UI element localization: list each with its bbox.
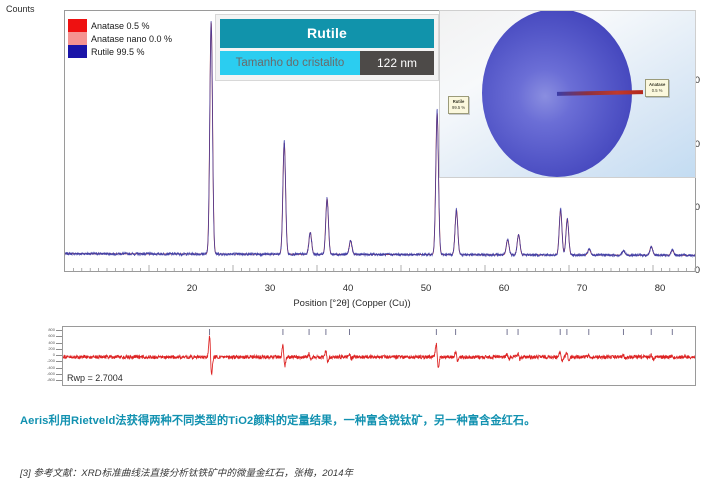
rutile-info-card: Rutile Tamanho do cristalito 122 nm bbox=[215, 14, 439, 81]
legend-item-anatase-nano: Anatase nano 0.0 % bbox=[68, 32, 172, 45]
legend-item-rutile: Rutile 99.5 % bbox=[68, 45, 172, 58]
rwp-value-label: Rwp = 2.7004 bbox=[67, 373, 123, 383]
figure-reference: [3] 参考文献：XRD标准曲线法直接分析钛铁矿中的微量金红石，张梅，2014年 bbox=[20, 465, 690, 479]
residual-y-tick-label: 800 bbox=[48, 328, 55, 332]
legend-swatch-rutile bbox=[68, 45, 87, 58]
rutile-card-body: Tamanho do cristalito 122 nm bbox=[220, 51, 434, 75]
x-tick-label-60: 60 bbox=[499, 283, 510, 294]
legend-label-rutile: Rutile 99.5 % bbox=[91, 47, 145, 57]
residual-y-tick-label: -200 bbox=[47, 359, 55, 363]
legend-swatch-anatase-nano bbox=[68, 32, 87, 45]
x-tick-label-40: 40 bbox=[343, 283, 354, 294]
residual-y-tick-label: -400 bbox=[47, 366, 55, 370]
x-tick-label-70: 70 bbox=[577, 283, 588, 294]
residual-plot-area: Rwp = 2.7004 bbox=[62, 326, 696, 386]
legend-item-anatase: Anatase 0.5 % bbox=[68, 19, 172, 32]
pie-callout-anatase-value: 0.5 % bbox=[652, 88, 663, 93]
crystallite-size-label: Tamanho do cristalito bbox=[220, 51, 360, 75]
legend-label-anatase-nano: Anatase nano 0.0 % bbox=[91, 34, 172, 44]
rutile-card-title: Rutile bbox=[220, 19, 434, 48]
residual-curve-svg bbox=[63, 327, 695, 385]
residual-difference-panel: 8006004002000-200-400-600-800 Rwp = 2.70… bbox=[44, 326, 696, 386]
phase-quantification-pie-inset: Rutile 99.5 % Anatase 0.5 % bbox=[439, 10, 696, 178]
pie-callout-rutile-value: 99.5 % bbox=[452, 105, 465, 110]
x-axis-title: Position [°2θ] (Copper (Cu)) bbox=[0, 298, 704, 309]
crystallite-size-value: 122 nm bbox=[360, 51, 434, 75]
residual-y-tick-label: 400 bbox=[48, 341, 55, 345]
residual-y-tick-label: 0 bbox=[53, 353, 55, 357]
legend-label-anatase: Anatase 0.5 % bbox=[91, 21, 150, 31]
phase-legend: Anatase 0.5 % Anatase nano 0.0 % Rutile … bbox=[68, 19, 172, 58]
x-tick-label-80: 80 bbox=[655, 283, 666, 294]
screenshot-root: Counts 30000 20000 10000 0 Anatase 0.5 %… bbox=[0, 0, 704, 499]
residual-y-tick-label: -600 bbox=[47, 372, 55, 376]
pie-callout-rutile: Rutile 99.5 % bbox=[448, 96, 469, 114]
residual-y-tick-label: 600 bbox=[48, 334, 55, 338]
x-tick-label-20: 20 bbox=[187, 283, 198, 294]
legend-swatch-anatase bbox=[68, 19, 87, 32]
figure-caption: Aeris利用Rietveld法获得两种不同类型的TiO2颜料的定量结果，一种富… bbox=[20, 412, 690, 428]
y-axis-title: Counts bbox=[6, 4, 35, 14]
x-tick-label-50: 50 bbox=[421, 283, 432, 294]
residual-y-tick-label: -800 bbox=[47, 378, 55, 382]
pie-callout-anatase: Anatase 0.5 % bbox=[645, 79, 669, 97]
residual-y-tick-label: 200 bbox=[48, 347, 55, 351]
x-tick-label-30: 30 bbox=[265, 283, 276, 294]
residual-y-axis: 8006004002000-200-400-600-800 bbox=[44, 326, 62, 386]
